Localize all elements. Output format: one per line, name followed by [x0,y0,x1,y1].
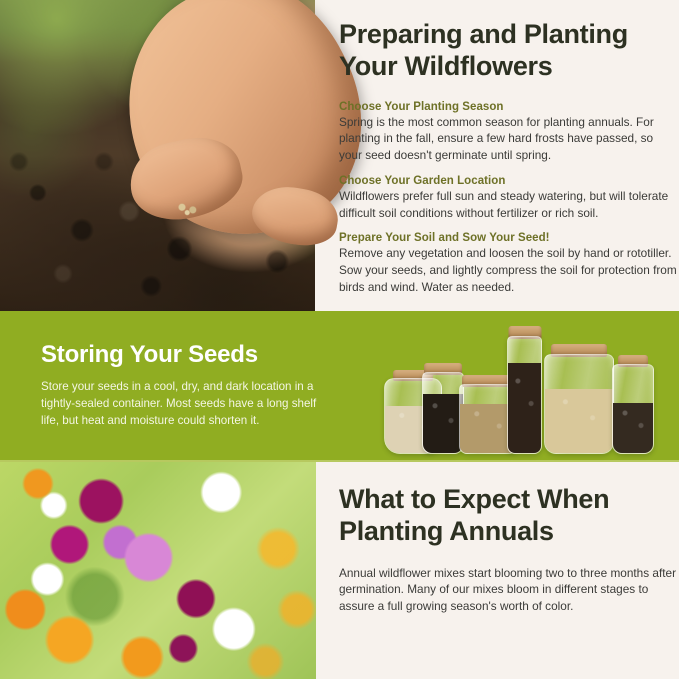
planting-title-line1: Preparing and Planting [339,19,628,49]
page-title: Preparing and Planting Your Wildflowers [339,19,679,83]
storing-text-column: Storing Your Seeds Store your seeds in a… [41,341,331,430]
expect-title-line2: Planting Annuals [339,516,554,546]
subhead-planting-season: Choose Your Planting Season [339,101,679,113]
jar-tall-black-seeds [422,363,464,454]
jar-sunflower-seeds [612,355,654,454]
body-prepare-soil: Remove any vegetation and loosen the soi… [339,245,679,295]
wildflowers-photo [0,462,316,679]
body-garden-location: Wildflowers prefer full sun and steady w… [339,188,679,222]
glass-body [507,336,542,454]
seed-fill [613,403,653,453]
section-preparing-and-planting: Preparing and Planting Your Wildflowers … [0,0,679,311]
seed-fill [508,363,541,453]
planting-block-soil: Prepare Your Soil and Sow Your Seed! Rem… [339,232,679,295]
jar-large-pumpkin-seeds [544,344,614,454]
glass-body [612,364,654,454]
expect-body: Annual wildflower mixes start blooming t… [339,565,679,615]
expect-text-column: What to Expect When Planting Annuals Ann… [339,462,679,615]
planting-title-line2: Your Wildflowers [339,51,552,81]
storing-title: Storing Your Seeds [41,341,331,369]
seed-fill [423,394,463,453]
infographic-page: Preparing and Planting Your Wildflowers … [0,0,679,679]
planting-text-column: Preparing and Planting Your Wildflowers … [339,0,679,311]
storing-body: Store your seeds in a cool, dry, and dar… [41,379,331,430]
seed-jars-photo [384,322,669,454]
body-planting-season: Spring is the most common season for pla… [339,114,679,164]
planting-block-location: Choose Your Garden Location Wildflowers … [339,175,679,222]
seeds-in-palm [168,200,208,218]
hands-sowing-seeds-photo [0,0,315,311]
planting-block-season: Choose Your Planting Season Spring is th… [339,101,679,164]
column-divider [316,462,339,679]
jar-cylinder-dark-seeds [507,326,542,454]
subhead-garden-location: Choose Your Garden Location [339,175,679,187]
glass-body [544,354,614,454]
expect-title-line1: What to Expect When [339,484,609,514]
subhead-prepare-soil: Prepare Your Soil and Sow Your Seed! [339,232,679,244]
glass-body [422,372,464,454]
seed-fill [545,389,613,453]
expect-title: What to Expect When Planting Annuals [339,484,679,548]
section-what-to-expect: What to Expect When Planting Annuals Ann… [0,462,679,679]
